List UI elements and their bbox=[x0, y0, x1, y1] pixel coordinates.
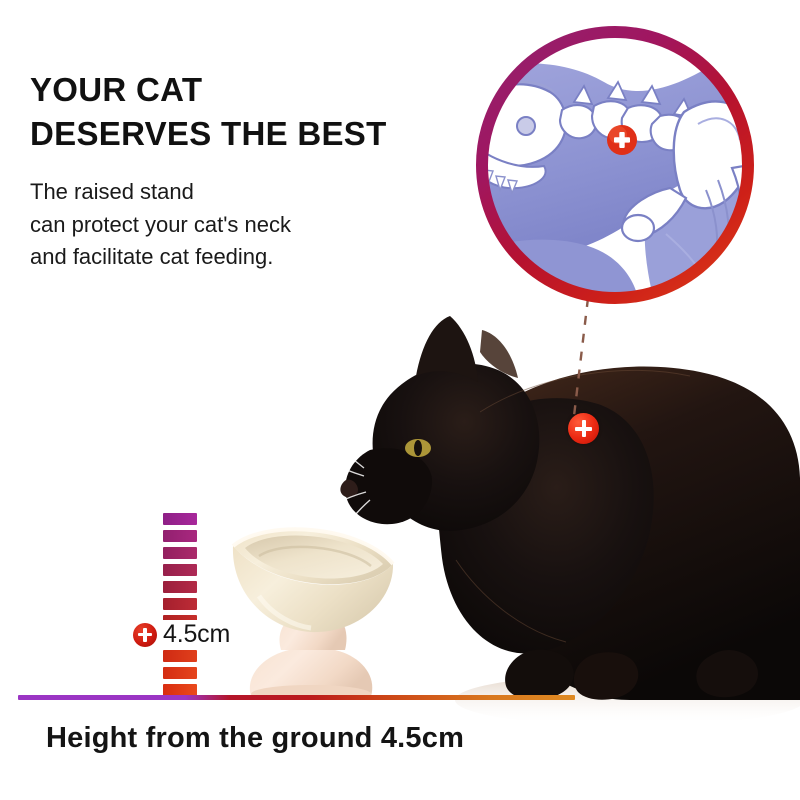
ruler-tick bbox=[163, 598, 197, 610]
product-infographic-canvas: YOUR CAT DESERVES THE BEST The raised st… bbox=[0, 0, 800, 800]
ruler-tick bbox=[163, 513, 197, 525]
ruler-tick bbox=[163, 581, 197, 593]
cat-skeleton-xray-inset bbox=[470, 20, 760, 310]
ground-baseline bbox=[18, 695, 575, 700]
ruler-tick bbox=[163, 547, 197, 559]
subcopy-line-2: can protect your cat's neck bbox=[30, 209, 450, 242]
xray-plus-marker-icon bbox=[607, 125, 637, 155]
height-value-text: 4.5cm bbox=[163, 622, 230, 647]
headline-line-2: DESERVES THE BEST bbox=[30, 112, 470, 156]
ruler-tick bbox=[163, 530, 197, 542]
neck-plus-badge-icon bbox=[568, 413, 599, 444]
height-measurement-label: 4.5cm bbox=[131, 620, 234, 649]
headline-line-1: YOUR CAT bbox=[30, 68, 470, 112]
bottom-caption: Height from the ground 4.5cm bbox=[46, 722, 464, 755]
subcopy-block: The raised stand can protect your cat's … bbox=[30, 176, 450, 274]
page-title: YOUR CAT DESERVES THE BEST bbox=[30, 68, 470, 155]
ruler-tick bbox=[163, 564, 197, 576]
subcopy-line-1: The raised stand bbox=[30, 176, 450, 209]
ruler-tick bbox=[163, 650, 197, 662]
raised-cat-bowl bbox=[215, 500, 405, 700]
ruler-tick bbox=[163, 667, 197, 679]
height-ruler bbox=[163, 513, 197, 699]
plus-badge-icon bbox=[133, 623, 157, 647]
subcopy-line-3: and facilitate cat feeding. bbox=[30, 241, 450, 274]
leader-dashed-line bbox=[556, 296, 616, 421]
